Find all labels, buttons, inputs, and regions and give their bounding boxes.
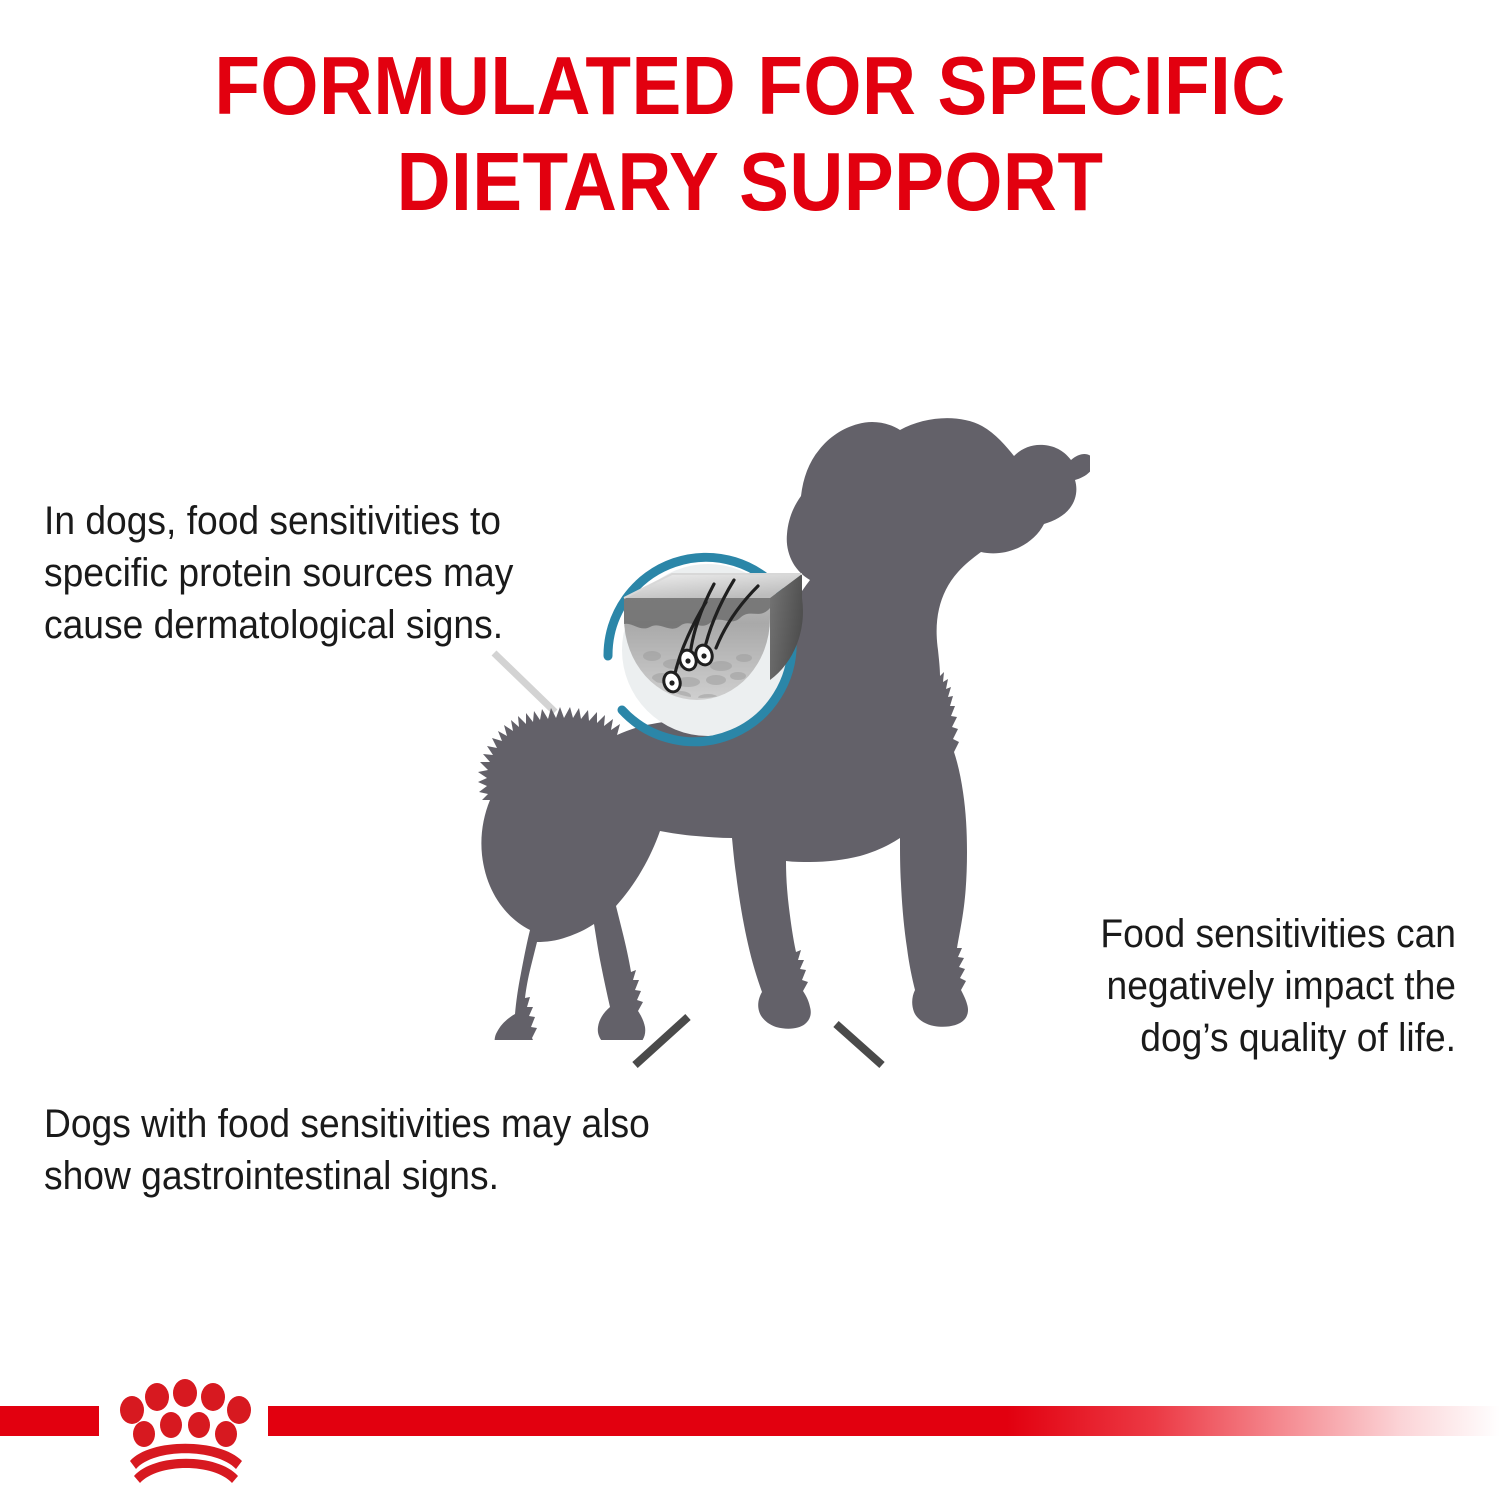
- skin-hair-follicle-icon: [588, 528, 816, 756]
- page-title-line-2: DIETARY SUPPORT: [75, 134, 1425, 230]
- callout-dermatological: In dogs, food sensitivities to specific …: [44, 495, 546, 651]
- page-title: FORMULATED FOR SPECIFIC DIETARY SUPPORT: [0, 38, 1500, 230]
- footer-rule-right: [268, 1406, 1500, 1436]
- royal-canin-crown-logo: [106, 1372, 266, 1492]
- page-title-line-1: FORMULATED FOR SPECIFIC: [75, 38, 1425, 134]
- product-feature-panel: FORMULATED FOR SPECIFIC DIETARY SUPPORT: [0, 0, 1500, 1500]
- callout-quality-of-life: Food sensitivities can negatively impact…: [1065, 908, 1456, 1064]
- callout-gastrointestinal: Dogs with food sensitivities may also sh…: [44, 1098, 714, 1202]
- footer-rule-left: [0, 1406, 99, 1436]
